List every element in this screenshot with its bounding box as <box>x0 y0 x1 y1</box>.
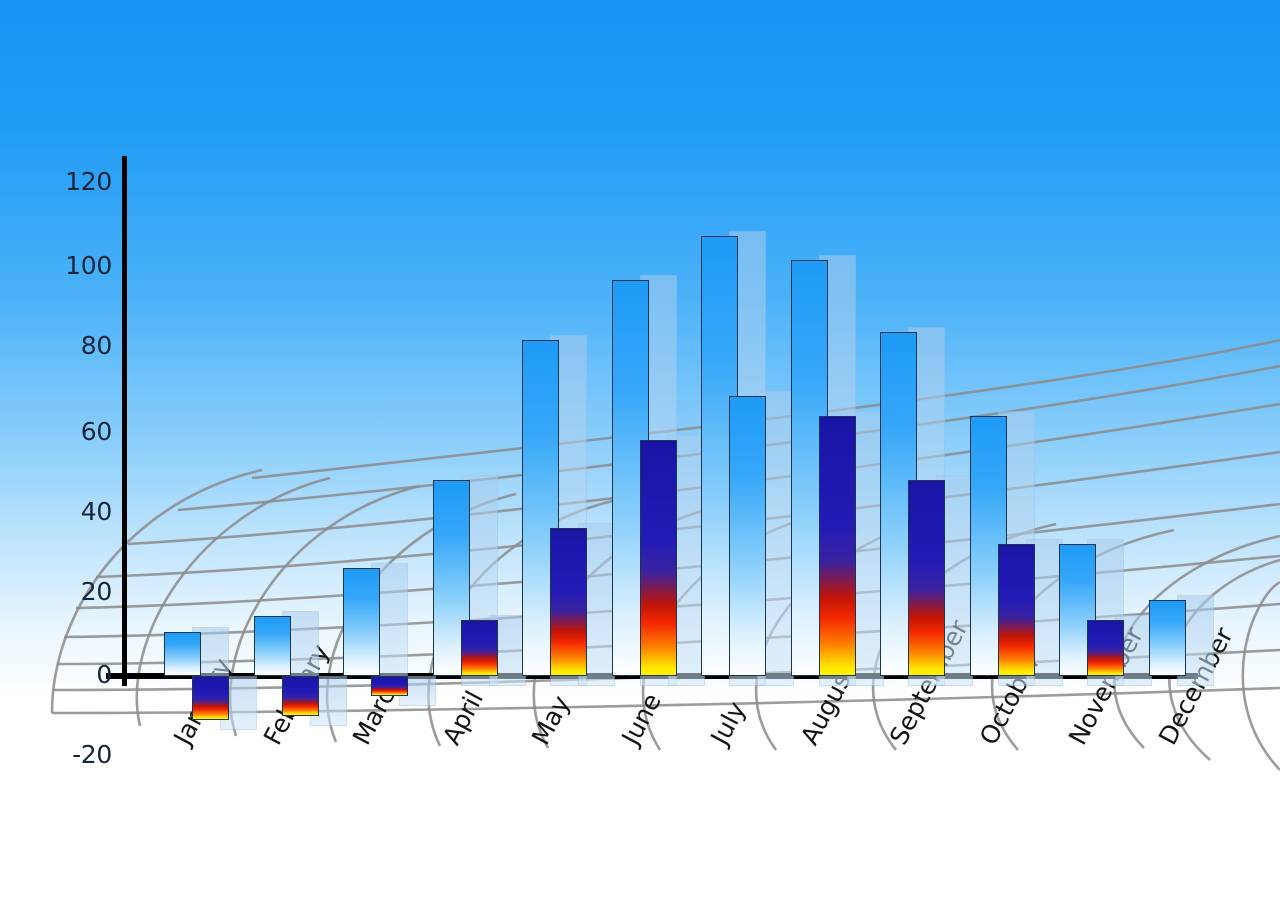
y-axis-line <box>122 156 127 686</box>
ytick-label-100: 100 <box>42 251 112 280</box>
ytick-label-20: 20 <box>42 577 112 606</box>
plot-area: 120 100 80 60 40 20 0 -20 JanuaryFebruar… <box>0 0 1280 905</box>
bar-march-series1[interactable] <box>343 568 380 676</box>
ytick-label-60: 60 <box>42 417 112 446</box>
bar-october-series2[interactable] <box>998 544 1035 676</box>
ytick-label-120: 120 <box>42 167 112 196</box>
bar-november-series2[interactable] <box>1087 620 1124 676</box>
bar-april-series2[interactable] <box>461 620 498 676</box>
ytick-label-40: 40 <box>42 497 112 526</box>
month-label-july: July <box>705 697 751 750</box>
month-label-june: June <box>616 689 667 750</box>
bar-july-series2[interactable] <box>729 396 766 676</box>
bar-january-series2[interactable] <box>192 676 229 720</box>
month-label-may: May <box>526 691 576 750</box>
bar-march-series2[interactable] <box>371 676 408 696</box>
ytick-label-0: 0 <box>42 660 112 689</box>
month-label-april: April <box>437 686 489 749</box>
bar-december-series1[interactable] <box>1149 600 1186 676</box>
bar-june-series2[interactable] <box>640 440 677 676</box>
bar-february-series2[interactable] <box>282 676 319 716</box>
bar-january-series1[interactable] <box>164 632 201 676</box>
bar-august-series2[interactable] <box>819 416 856 676</box>
bar-may-series2[interactable] <box>550 528 587 676</box>
bar-february-series1[interactable] <box>254 616 291 676</box>
chart-canvas: 120 100 80 60 40 20 0 -20 JanuaryFebruar… <box>0 0 1280 905</box>
ytick-label-neg20: -20 <box>42 740 112 769</box>
ytick-label-80: 80 <box>42 331 112 360</box>
bar-september-series2[interactable] <box>908 480 945 676</box>
